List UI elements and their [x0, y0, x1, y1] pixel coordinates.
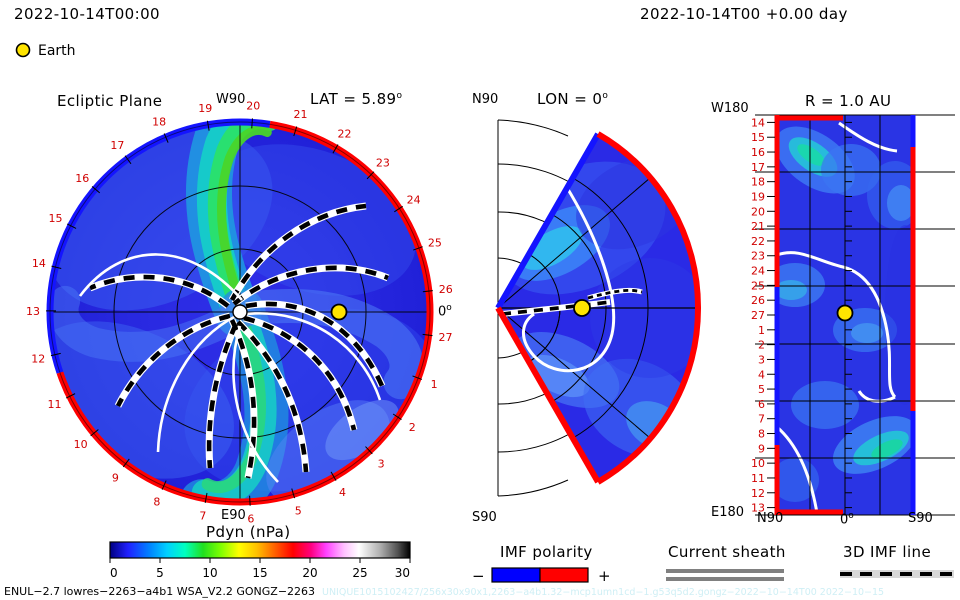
svg-text:25: 25 [352, 566, 367, 580]
svg-text:27: 27 [438, 331, 452, 344]
panel1-bottom-label: E90 [221, 508, 246, 523]
imf-polarity-title: IMF polarity [500, 543, 593, 561]
panel1-ecliptic-plot: 1920212223242526271234567891011121314151… [10, 100, 470, 520]
svg-text:8: 8 [153, 496, 160, 509]
earth-legend: Earth [12, 40, 192, 60]
svg-text:15: 15 [751, 131, 765, 144]
svg-text:14: 14 [32, 257, 46, 270]
colorbar-ticks: 051015202530 [110, 558, 410, 580]
panel3-axis-left: N90 [757, 511, 783, 526]
panel3-earth-marker [838, 306, 853, 321]
svg-text:27: 27 [751, 309, 765, 322]
svg-text:20: 20 [246, 99, 260, 112]
svg-text:4: 4 [758, 368, 765, 381]
svg-text:5: 5 [295, 505, 302, 518]
svg-text:9: 9 [758, 442, 765, 455]
panel3-axis-center: 0o [840, 511, 854, 527]
panel3-bottom-label: E180 [711, 505, 744, 520]
imf-plus-label: + [598, 567, 611, 585]
svg-text:15: 15 [252, 566, 267, 580]
panel2-bottom-label: S90 [472, 510, 497, 525]
footer-watermark: UNIQUE1015102427/256x30x90x1,2263−a4b1.3… [322, 587, 884, 598]
svg-text:22: 22 [338, 127, 352, 140]
svg-text:7: 7 [758, 413, 765, 426]
svg-text:5: 5 [156, 566, 164, 580]
imf-minus-label: − [472, 567, 485, 585]
svg-text:4: 4 [339, 486, 346, 499]
current-sheath-legend [662, 565, 792, 585]
svg-text:18: 18 [751, 176, 765, 189]
svg-text:25: 25 [428, 236, 442, 249]
svg-text:15: 15 [49, 212, 63, 225]
panel1-top-label: W90 [216, 92, 245, 107]
svg-text:19: 19 [198, 102, 212, 115]
svg-text:16: 16 [75, 172, 89, 185]
svg-text:2: 2 [758, 339, 765, 352]
imf-positive-swatch [540, 568, 588, 582]
svg-text:17: 17 [751, 161, 765, 174]
svg-text:1: 1 [431, 378, 438, 391]
svg-text:8: 8 [758, 428, 765, 441]
svg-text:1: 1 [758, 324, 765, 337]
svg-text:24: 24 [407, 193, 421, 206]
svg-text:0: 0 [110, 566, 118, 580]
svg-text:26: 26 [751, 294, 765, 307]
svg-text:5: 5 [758, 383, 765, 396]
svg-text:30: 30 [395, 566, 410, 580]
svg-text:9: 9 [112, 471, 119, 484]
svg-text:10: 10 [202, 566, 217, 580]
svg-text:22: 22 [751, 235, 765, 248]
svg-text:10: 10 [74, 438, 88, 451]
svg-text:19: 19 [751, 190, 765, 203]
earth-legend-label: Earth [38, 43, 76, 59]
svg-text:13: 13 [26, 305, 40, 318]
svg-text:12: 12 [751, 487, 765, 500]
svg-text:24: 24 [751, 265, 765, 278]
current-sheath-title: Current sheath [668, 543, 786, 561]
svg-text:7: 7 [199, 510, 206, 523]
svg-text:2: 2 [409, 421, 416, 434]
svg-text:16: 16 [751, 146, 765, 159]
imf-line-title: 3D IMF line [843, 543, 931, 561]
panel2-title: LON = 0o [537, 90, 608, 108]
imf-negative-swatch [492, 568, 540, 582]
colorbar-gradient [110, 542, 410, 558]
footer-model-info: ENUL−2.7 lowres−2263−a4b1 WSA_V2.2 GONGZ… [4, 585, 315, 598]
svg-text:11: 11 [47, 398, 61, 411]
svg-text:21: 21 [294, 108, 308, 121]
timestamp-left: 2022-10-14T00:00 [14, 5, 160, 23]
imf-polarity-legend: − + [470, 565, 640, 587]
panel3-synoptic-plot: 1415161718192021222324252627123456789101… [755, 115, 955, 515]
svg-text:6: 6 [758, 398, 765, 411]
imf-line-legend [838, 565, 958, 585]
svg-text:20: 20 [751, 205, 765, 218]
panel3-top-label: W180 [711, 101, 749, 116]
panel1-earth-marker [332, 305, 347, 320]
svg-text:20: 20 [302, 566, 317, 580]
svg-text:25: 25 [751, 279, 765, 292]
svg-text:17: 17 [110, 139, 124, 152]
svg-text:23: 23 [751, 250, 765, 263]
svg-text:11: 11 [751, 472, 765, 485]
svg-text:12: 12 [31, 353, 45, 366]
panel1-right-label: 0o [438, 303, 452, 319]
colorbar: 051015202530 [108, 540, 418, 582]
svg-text:3: 3 [758, 353, 765, 366]
svg-text:23: 23 [376, 156, 390, 169]
panel2-top-label: N90 [472, 92, 498, 107]
svg-text:18: 18 [152, 115, 166, 128]
panel2-meridional-plot [460, 108, 700, 508]
svg-text:14: 14 [751, 116, 765, 129]
timestamp-right: 2022-10-14T00 +0.00 day [640, 5, 848, 23]
panel2-earth-marker [574, 300, 590, 316]
panel3-axis-right: S90 [908, 511, 933, 526]
svg-text:26: 26 [439, 283, 453, 296]
svg-text:10: 10 [751, 457, 765, 470]
svg-text:3: 3 [378, 457, 385, 470]
sun-marker [233, 305, 247, 319]
panel1-axis-label: Pdyn (nPa) [206, 523, 291, 541]
earth-marker-icon [17, 44, 30, 57]
svg-text:21: 21 [751, 220, 765, 233]
panel3-title: R = 1.0 AU [805, 92, 891, 110]
